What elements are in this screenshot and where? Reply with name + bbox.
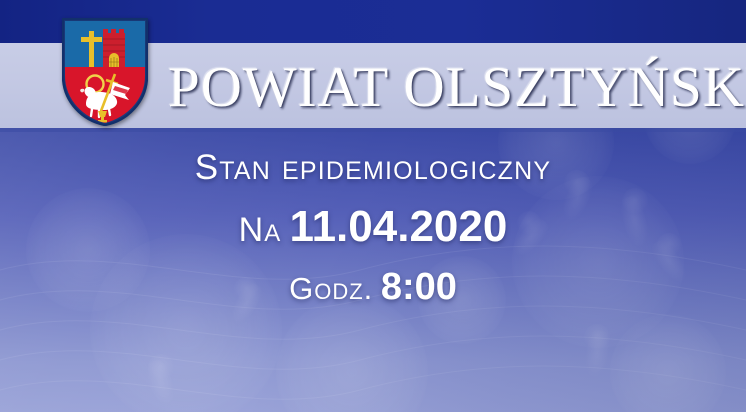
date-line: Na 11.04.2020	[239, 202, 508, 252]
time-line: Godz. 8:00	[289, 266, 457, 309]
date-value: 11.04.2020	[290, 202, 508, 251]
page-title: POWIAT OLSZTYŃSKI	[168, 47, 728, 127]
time-label: Godz.	[289, 271, 373, 306]
epidemic-status-poster: POWIAT OLSZTYŃSKI Stan epidemiologiczny …	[0, 0, 746, 412]
subtitle-epidemiological-status: Stan epidemiologiczny	[195, 148, 551, 188]
time-value: 8:00	[381, 266, 457, 308]
coat-of-arms-icon	[62, 18, 148, 126]
date-label: Na	[239, 211, 282, 249]
poster-body: Stan epidemiologiczny Na 11.04.2020 Godz…	[0, 132, 746, 412]
